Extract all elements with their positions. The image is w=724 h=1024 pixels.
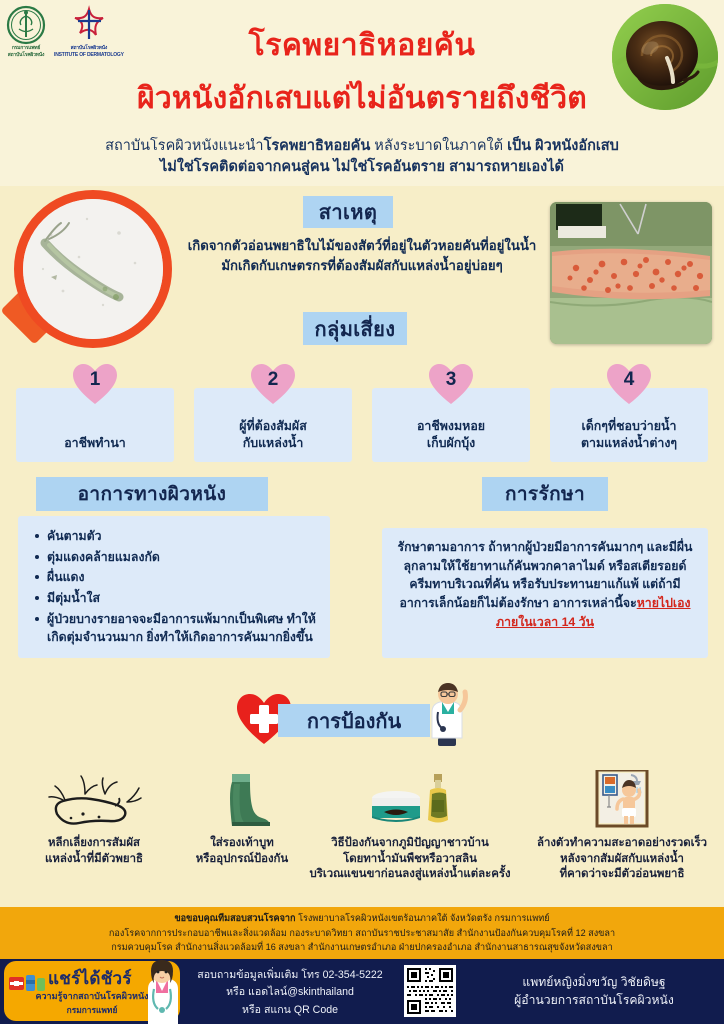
prevention-item-2: ใส่รองเท้าบูท หรืออุปกรณ์ป้องกัน <box>172 768 312 867</box>
credits-bold-prefix: ขอขอบคุณทีมสอบสวนโรคจาก <box>174 913 295 923</box>
caption-line: แหล่งน้ำที่มีตัวพยาธิ <box>8 852 180 868</box>
risk-number-2: 2 <box>250 369 296 391</box>
arm-rash-image <box>550 202 712 344</box>
cercaria-larva-microscope-image <box>23 199 163 339</box>
caption-line: หลังจากสัมผัสกับแหล่งน้ำ <box>520 852 724 868</box>
list-item: มีตุ่มน้ำใส <box>32 590 320 608</box>
caption-line: บริเวณแขนขาก่อนลงสู่แหล่งน้ำแต่ละครั้ง <box>300 867 520 883</box>
caption-line: ล้างตัวทำความสะอาดอย่างรวดเร็ว <box>520 836 724 852</box>
risk-label-3-line-1: อาชีพงมหอย <box>417 418 485 434</box>
risk-card-row: 1 อาชีพทำนา 2 ผู้ที่ต้องสัมผัส กับแหล่งน… <box>16 388 708 462</box>
caption-line: หลีกเลี่ยงการสัมผัส <box>8 836 180 852</box>
symptoms-list-box: คันตามตัว ตุ่มแดงคล้ายแมลงกัด ผื่นแดง มี… <box>18 516 330 658</box>
doctor-character-icon <box>416 682 476 748</box>
prevention-item-1: หลีกเลี่ยงการสัมผัส แหล่งน้ำที่มีตัวพยาธ… <box>8 768 180 867</box>
caption-line: หรืออุปกรณ์ป้องกัน <box>172 852 312 868</box>
list-item: ผื่นแดง <box>32 569 320 587</box>
signoff-name: แพทย์หญิงมิ่งขวัญ วิชัยดิษฐ <box>470 973 718 991</box>
risk-number-4: 4 <box>606 369 652 391</box>
share-badge: แชร์ได้ชัวร์ ความรู้จากสถาบันโรคผิวหนัง … <box>4 961 180 1021</box>
subtitle-bold-2: เป็น ผิวหนังอักเสบ <box>507 138 619 154</box>
subtitle-line-2: ไม่ใช่โรคติดต่อจากคนสู่คน ไม่ใช่โรคอันตร… <box>48 157 676 178</box>
risk-label-4: เด็กๆที่ชอบว่ายน้ำ ตามแหล่งน้ำต่างๆ <box>581 418 677 451</box>
subtitle-part-2: หลังระบาดในภาคใต้ <box>370 138 507 154</box>
risk-card-2: 2 ผู้ที่ต้องสัมผัส กับแหล่งน้ำ <box>194 388 352 462</box>
contact-info: สอบถามข้อมูลเพิ่มเติม โทร 02-354-5222 หร… <box>186 967 394 1019</box>
risk-label-4-line-1: เด็กๆที่ชอบว่ายน้ำ <box>581 418 677 434</box>
caption-line: วิธีป้องกันจากภูมิปัญญาชาวบ้าน <box>300 836 520 852</box>
vaseline-jar-and-oil-bottle-icon <box>300 768 520 830</box>
symptoms-list: คันตามตัว ตุ่มแดงคล้ายแมลงกัด ผื่นแดง มี… <box>32 528 320 646</box>
cause-body: เกิดจากตัวอ่อนพยาธิใบไม้ของสัตว์ที่อยู่ใ… <box>160 236 564 276</box>
list-item: ตุ่มแดงคล้ายแมลงกัด <box>32 549 320 567</box>
signoff: แพทย์หญิงมิ่งขวัญ วิชัยดิษฐ ผู้อำนวยการส… <box>470 973 718 1010</box>
rubber-boot-icon <box>172 768 312 830</box>
prevention-item-3: วิธีป้องกันจากภูมิปัญญาชาวบ้าน โดยทาน้ำม… <box>300 768 520 883</box>
qr-code-image <box>407 968 453 1014</box>
risk-card-4: 4 เด็กๆที่ชอบว่ายน้ำ ตามแหล่งน้ำต่างๆ <box>550 388 708 462</box>
risk-label-3-line-2: เก็บผักบุ้ง <box>417 435 485 451</box>
title-line-2: ผิวหนังอักเสบแต่ไม่อันตรายถึงชีวิต <box>0 75 724 122</box>
contact-phone: สอบถามข้อมูลเพิ่มเติม โทร 02-354-5222 <box>186 967 394 984</box>
section-heading-treatment: การรักษา <box>482 477 608 511</box>
infographic-poster: กรมการแพทย์ สถาบันโรคผิวหนัง สถาบันโรคผิ… <box>0 0 724 1024</box>
subtitle: สถาบันโรคผิวหนังแนะนำโรคพยาธิหอยคัน หลัง… <box>48 136 676 178</box>
caption-line: ใส่รองเท้าบูท <box>172 836 312 852</box>
risk-label-4-line-2: ตามแหล่งน้ำต่างๆ <box>581 435 677 451</box>
section-heading-prevention: การป้องกัน <box>278 704 430 737</box>
prevention-header: การป้องกัน <box>226 690 496 748</box>
section-heading-symptoms: อาการทางผิวหนัง <box>36 477 268 511</box>
cause-line-2: มักเกิดกับเกษตรกรที่ต้องสัมผัสกับแหล่งน้… <box>160 256 564 276</box>
share-title: แชร์ได้ชัวร์ <box>48 965 132 992</box>
treatment-body: รักษาตามอาการ ถ้าหากผู้ป่วยมีอาการคันมาก… <box>394 538 696 631</box>
cause-line-1: เกิดจากตัวอ่อนพยาธิใบไม้ของสัตว์ที่อยู่ใ… <box>160 236 564 256</box>
credits-band: ขอขอบคุณทีมสอบสวนโรคจาก โรงพยาบาลโรคผิวห… <box>0 907 724 959</box>
prevention-item-4: ล้างตัวทำความสะอาดอย่างรวดเร็ว หลังจากสั… <box>520 768 724 883</box>
qr-code[interactable] <box>404 965 456 1017</box>
prevention-items-row: หลีกเลี่ยงการสัมผัส แหล่งน้ำที่มีตัวพยาธ… <box>0 768 724 893</box>
risk-label-2: ผู้ที่ต้องสัมผัส กับแหล่งน้ำ <box>239 418 307 451</box>
magnifier-lens <box>14 190 172 348</box>
risk-card-1: 1 อาชีพทำนา <box>16 388 174 462</box>
female-doctor-character-icon <box>134 959 190 1024</box>
credits-line-3: กรมควบคุมโรค สำนักงานสิ่งแวดล้อมที่ 16 ส… <box>0 940 724 955</box>
credits-line-1-rest: โรงพยาบาลโรคผิวหนังเขตร้อนภาคใต้ จังหวัด… <box>296 913 550 923</box>
contact-qr-hint: หรือ สแกน QR Code <box>186 1002 394 1019</box>
risk-label-3: อาชีพงมหอย เก็บผักบุ้ง <box>417 418 485 451</box>
person-showering-icon <box>520 768 724 830</box>
prevention-caption-3: วิธีป้องกันจากภูมิปัญญาชาวบ้าน โดยทาน้ำม… <box>300 836 520 883</box>
footer-bar: แชร์ได้ชัวร์ ความรู้จากสถาบันโรคผิวหนัง … <box>0 959 724 1024</box>
credits-line-1: ขอขอบคุณทีมสอบสวนโรคจาก โรงพยาบาลโรคผิวห… <box>0 911 724 926</box>
bare-foot-with-larvae-icon <box>8 768 180 830</box>
signoff-title: ผู้อำนวยการสถาบันโรคผิวหนัง <box>470 991 718 1009</box>
prevention-caption-1: หลีกเลี่ยงการสัมผัส แหล่งน้ำที่มีตัวพยาธ… <box>8 836 180 867</box>
subtitle-part-1: สถาบันโรคผิวหนังแนะนำ <box>105 138 263 154</box>
subtitle-bold-1: โรคพยาธิหอยคัน <box>264 138 371 154</box>
treatment-box: รักษาตามอาการ ถ้าหากผู้ป่วยมีอาการคันมาก… <box>382 528 708 658</box>
caption-line: ที่คาดว่าจะมีตัวอ่อนพยาธิ <box>520 867 724 883</box>
credits-line-2: กองโรคจากการประกอบอาชีพและสิ่งแวดล้อม กอ… <box>0 926 724 941</box>
risk-label-2-line-2: กับแหล่งน้ำ <box>239 435 307 451</box>
magnifier-graphic <box>6 184 182 364</box>
page-title: โรคพยาธิหอยคัน ผิวหนังอักเสบแต่ไม่อันตรา… <box>0 22 724 122</box>
section-heading-cause: สาเหตุ <box>303 196 393 228</box>
title-line-1: โรคพยาธิหอยคัน <box>0 22 724 69</box>
risk-label-2-line-1: ผู้ที่ต้องสัมผัส <box>239 418 307 434</box>
risk-label-1: อาชีพทำนา <box>64 435 126 451</box>
risk-label-1-line-1: อาชีพทำนา <box>64 435 126 451</box>
prevention-caption-4: ล้างตัวทำความสะอาดอย่างรวดเร็ว หลังจากสั… <box>520 836 724 883</box>
risk-card-3: 3 อาชีพงมหอย เก็บผักบุ้ง <box>372 388 530 462</box>
risk-number-1: 1 <box>72 369 118 391</box>
risk-number-3: 3 <box>428 369 474 391</box>
list-item: คันตามตัว <box>32 528 320 546</box>
section-heading-risk-group: กลุ่มเสี่ยง <box>303 312 407 345</box>
contact-line-id: หรือ แอดไลน์@skinthailand <box>186 984 394 1001</box>
arm-rash-photo <box>550 202 712 344</box>
prevention-caption-2: ใส่รองเท้าบูท หรืออุปกรณ์ป้องกัน <box>172 836 312 867</box>
caption-line: โดยทาน้ำมันพืชหรือวาสลิน <box>300 852 520 868</box>
list-item: ผู้ป่วยบางรายอาจจะมีอาการแพ้มากเป็นพิเศษ… <box>32 611 320 646</box>
